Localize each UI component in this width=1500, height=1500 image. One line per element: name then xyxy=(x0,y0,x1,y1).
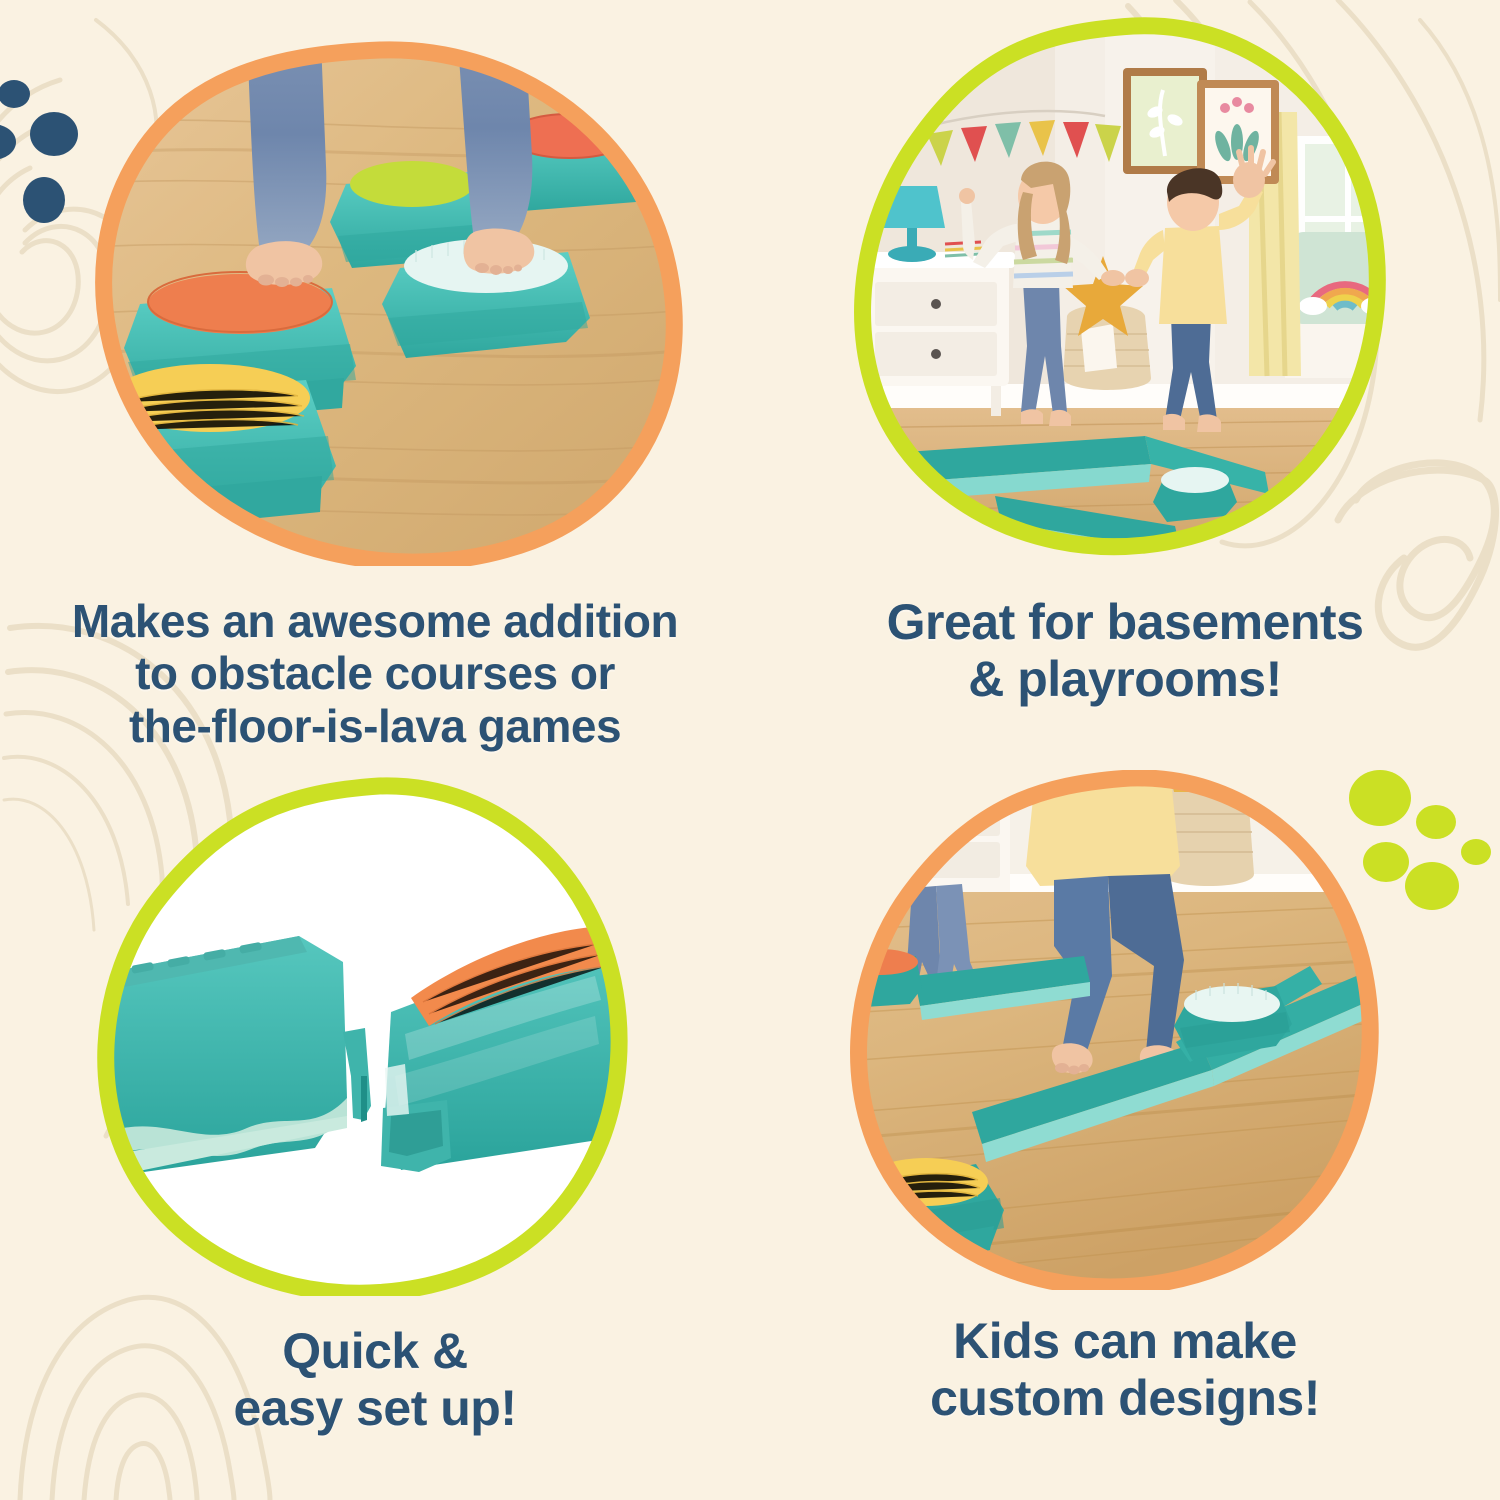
caption-line: easy set up! xyxy=(233,1380,516,1437)
photo-custom-designs xyxy=(840,770,1410,1295)
dot xyxy=(23,177,65,223)
dot xyxy=(1461,839,1491,865)
photo-quick-set-up xyxy=(75,776,675,1301)
blob-photo-frame-orange xyxy=(70,36,690,566)
caption-quick-set-up: Quick & easy set up! xyxy=(233,1323,516,1437)
caption-basements-playrooms: Great for basements & playrooms! xyxy=(887,594,1364,708)
blob-photo-frame-lime-2 xyxy=(75,776,675,1296)
blob-photo-frame-orange-2 xyxy=(840,770,1410,1290)
caption-line: Kids can make xyxy=(930,1313,1320,1370)
caption-line: Makes an awesome addition xyxy=(72,595,678,647)
feature-panel-quick-set-up: Quick & easy set up! xyxy=(0,752,750,1500)
photo-obstacle-course xyxy=(70,36,690,571)
blob-photo-frame-lime xyxy=(845,16,1405,561)
caption-custom-designs: Kids can make custom designs! xyxy=(930,1313,1320,1427)
dot xyxy=(0,124,16,160)
caption-obstacle-course: Makes an awesome addition to obstacle co… xyxy=(72,595,678,752)
dot xyxy=(0,80,30,108)
feature-panel-custom-designs: Kids can make custom designs! xyxy=(750,752,1500,1500)
dot xyxy=(1405,862,1459,910)
caption-line: Quick & xyxy=(233,1323,516,1380)
caption-line: & playrooms! xyxy=(887,651,1364,708)
caption-line: custom designs! xyxy=(930,1370,1320,1427)
caption-line: to obstacle courses or xyxy=(72,647,678,699)
photo-basements-playrooms xyxy=(845,16,1405,566)
caption-line: the-floor-is-lava games xyxy=(72,700,678,752)
feature-panel-obstacle-course: Makes an awesome addition to obstacle co… xyxy=(0,0,750,752)
feature-panel-basements-playrooms: Great for basements & playrooms! xyxy=(750,0,1500,752)
caption-line: Great for basements xyxy=(887,594,1364,651)
dot xyxy=(1416,805,1456,839)
feature-grid: Makes an awesome addition to obstacle co… xyxy=(0,0,1500,1500)
